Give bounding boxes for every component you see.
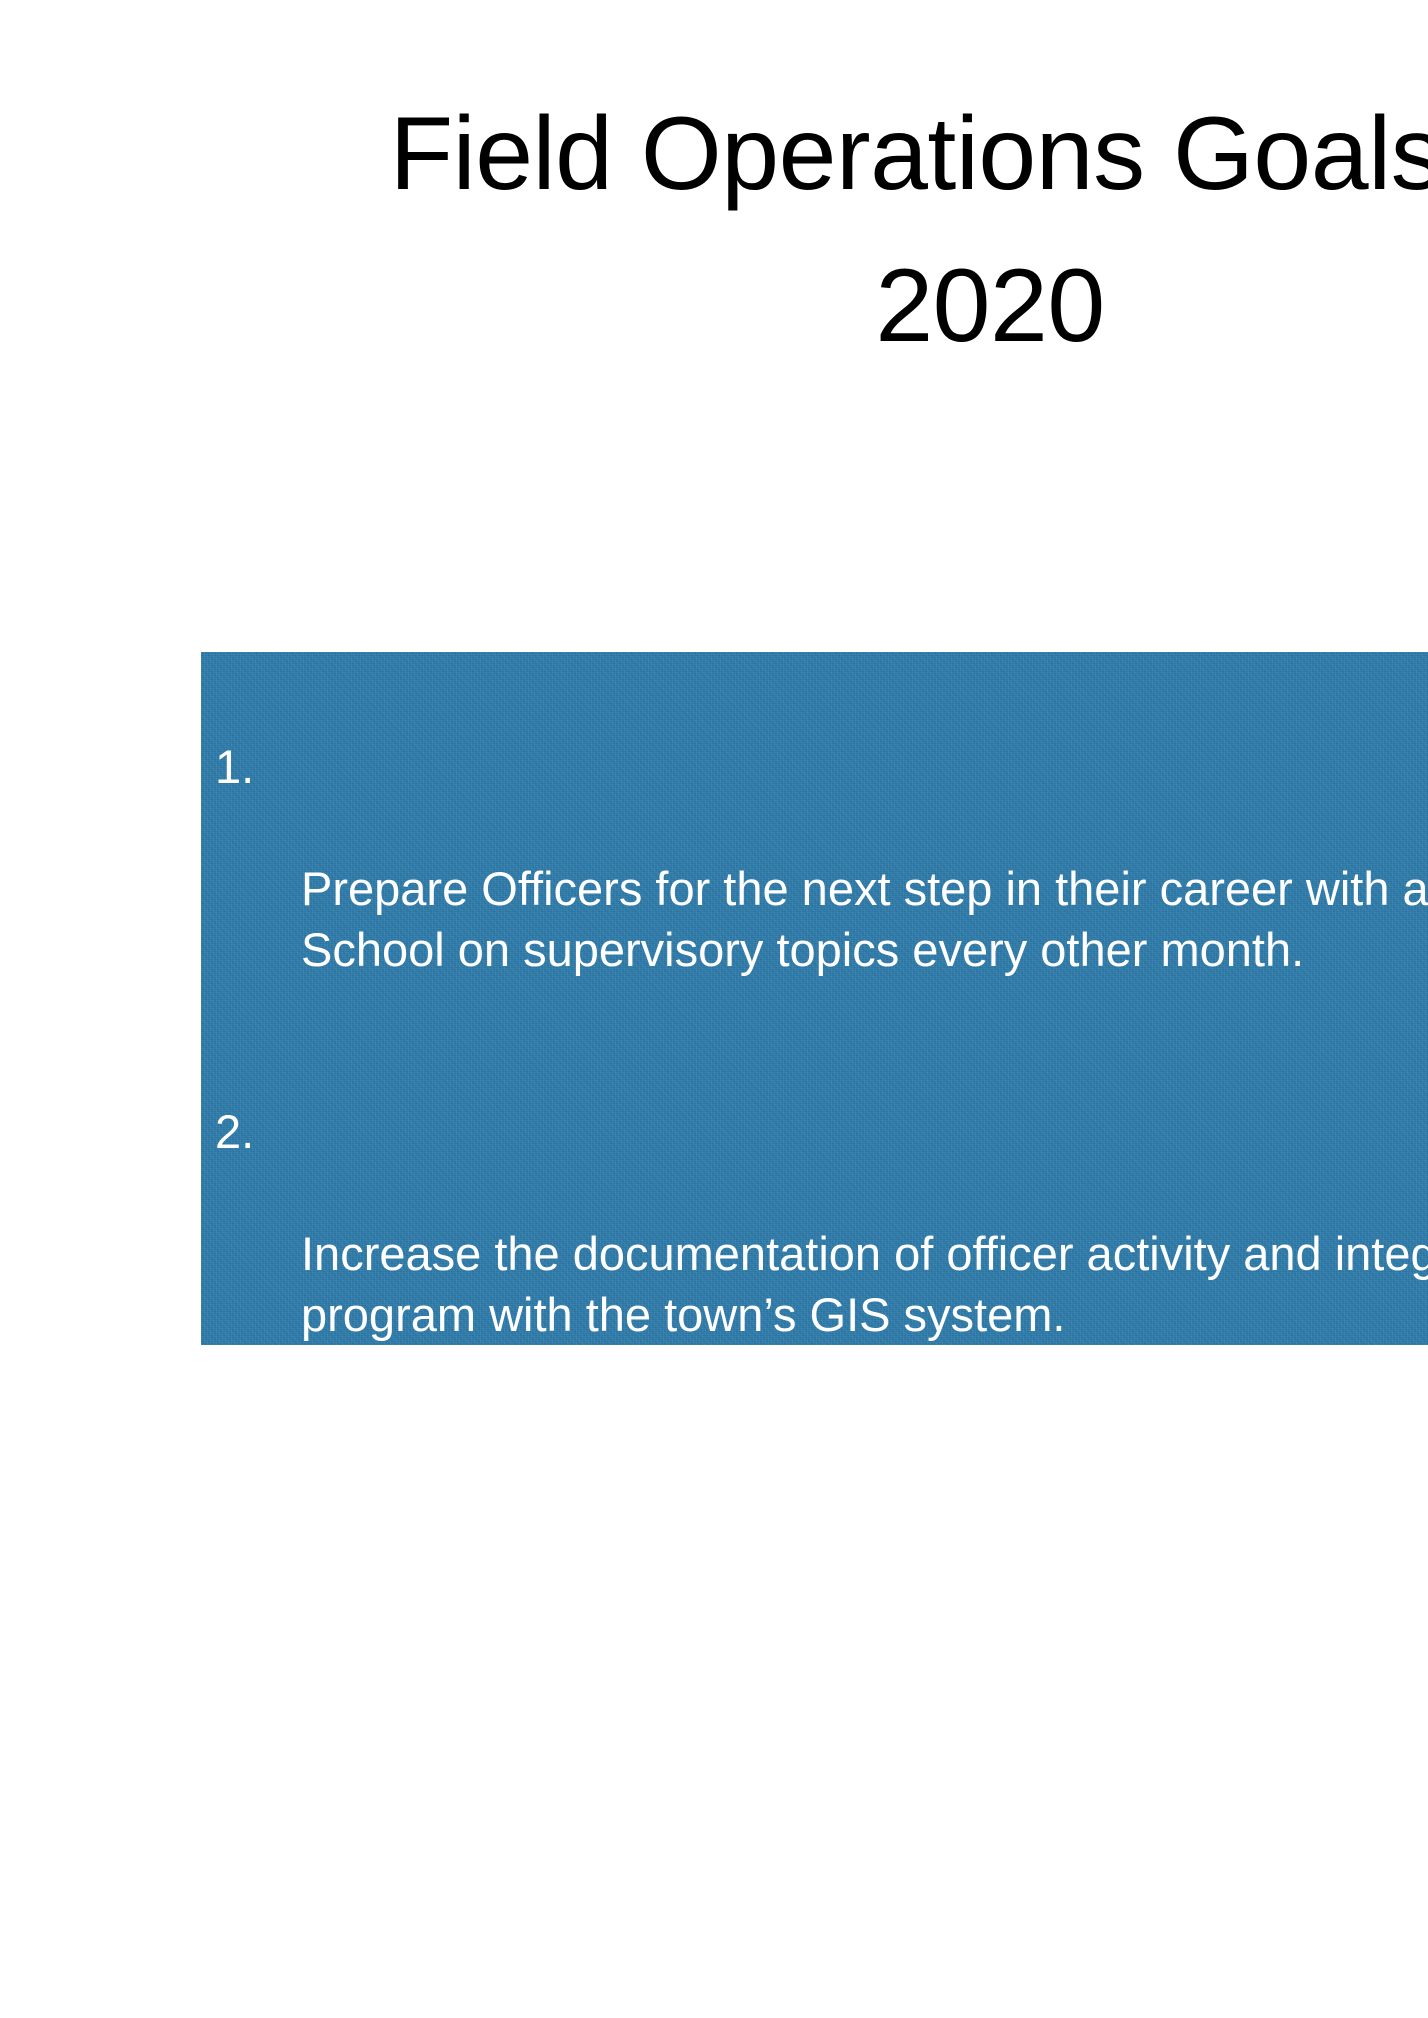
slide-canvas: Field Operations Goals for 2020 1. Prepa…: [0, 0, 1428, 2018]
slide-title: Field Operations Goals for 2020: [0, 78, 1428, 382]
list-item: 2. Increase the documentation of officer…: [201, 1101, 1428, 1406]
slide-title-line-2: 2020: [0, 230, 1428, 382]
list-item: 1. Prepare Officers for the next step in…: [201, 736, 1428, 1041]
goals-list: 1. Prepare Officers for the next step in…: [201, 652, 1428, 1710]
list-item-text: Increase work efficiency and work produc…: [301, 1588, 1428, 1649]
list-item: 3. Increase work efficiency and work pro…: [201, 1466, 1428, 1710]
list-item-number: 2.: [215, 1101, 285, 1162]
list-item-number: 3.: [215, 1466, 285, 1527]
goals-content-box: 1. Prepare Officers for the next step in…: [201, 652, 1428, 1345]
slide-title-line-1: Field Operations Goals for: [0, 78, 1428, 230]
list-item-text: Prepare Officers for the next step in th…: [301, 858, 1428, 980]
list-item-text: Increase the documentation of officer ac…: [301, 1223, 1428, 1345]
list-item-number: 1.: [215, 736, 285, 797]
